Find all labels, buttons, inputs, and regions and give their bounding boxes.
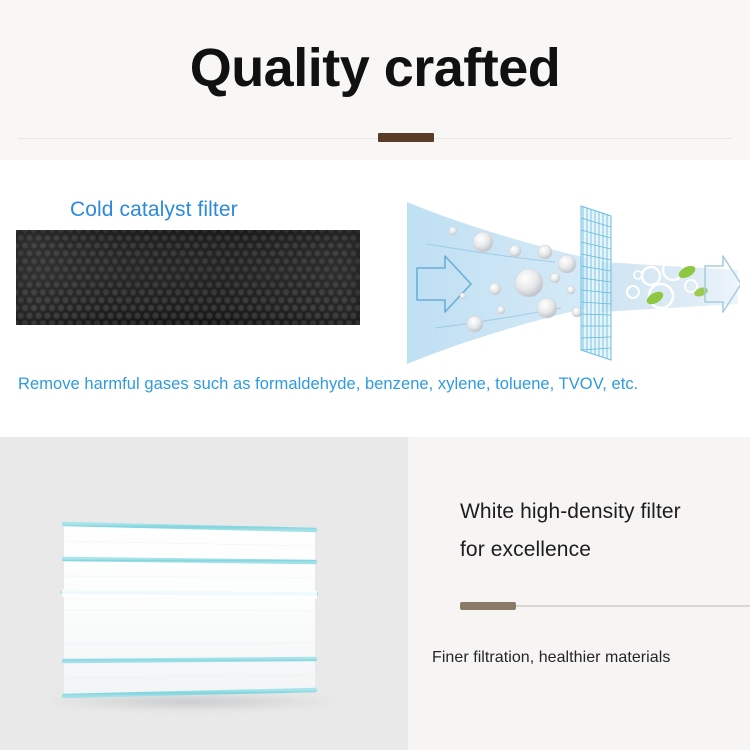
- white-filter-heading-line2: for excellence: [460, 531, 740, 569]
- cold-catalyst-title: Cold catalyst filter: [70, 198, 238, 222]
- header-divider: [18, 138, 732, 139]
- header-band: Quality crafted: [0, 0, 750, 160]
- dirty-air-stream: [407, 202, 587, 364]
- filter-mesh-screen: [581, 200, 611, 370]
- cold-catalyst-caption: Remove harmful gases such as formaldehyd…: [18, 375, 638, 394]
- white-filter-caption: Finer filtration, healthier materials: [432, 649, 670, 667]
- cold-catalyst-section: Cold catalyst filter: [0, 160, 750, 437]
- airflow-diagram: [405, 200, 740, 380]
- panel-accent-bar: [460, 602, 516, 610]
- white-filter-text-panel: White high-density filter for excellence…: [408, 437, 750, 750]
- carbon-filter-image: [16, 230, 360, 325]
- white-filter-heading: White high-density filter for excellence: [460, 493, 740, 569]
- header-accent-bar: [378, 133, 434, 142]
- page-title: Quality crafted: [0, 36, 750, 100]
- white-filter-image: [58, 515, 321, 705]
- white-filter-photo-panel: [0, 437, 408, 750]
- white-filter-heading-line1: White high-density filter: [460, 493, 740, 531]
- airflow-svg: [405, 200, 740, 380]
- white-filter-svg: [58, 515, 321, 705]
- carbon-filter-sheen: [16, 230, 360, 325]
- product-infographic: Quality crafted Cold catalyst filter: [0, 0, 750, 750]
